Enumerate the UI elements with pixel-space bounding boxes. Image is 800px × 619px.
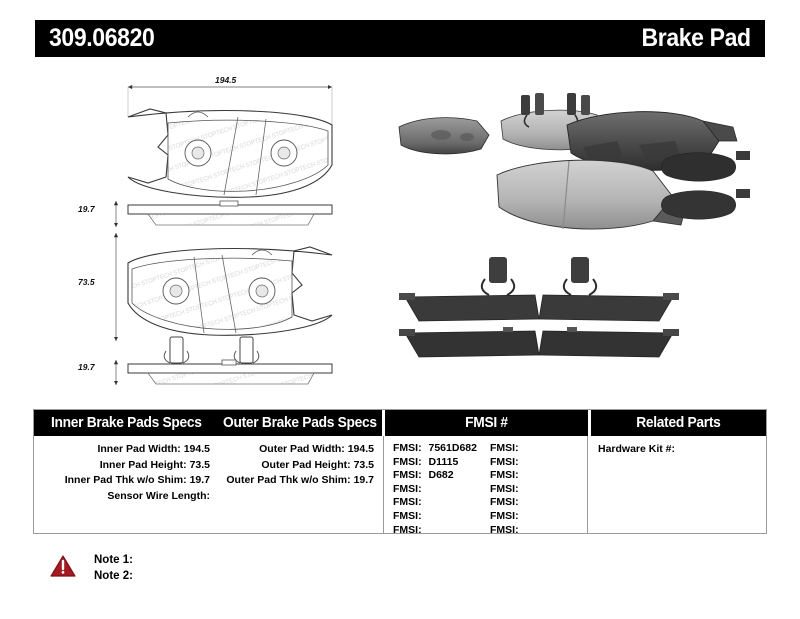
outer-specs-cell: Outer Pad Width: 194.5 Outer Pad Height:… bbox=[219, 436, 383, 533]
lower-pad-face-view bbox=[128, 247, 332, 335]
illustration-area: STOPTECH bbox=[0, 60, 800, 390]
fmsi-label: FMSI: bbox=[393, 483, 422, 495]
fmsi-label: FMSI: bbox=[393, 456, 422, 468]
photo-pad-angled-back-left bbox=[399, 118, 489, 154]
spec-row: Outer Pad Thk w/o Shim: 19.7 bbox=[219, 473, 383, 489]
spec-value: 194.5 bbox=[184, 443, 210, 455]
spec-row: Inner Pad Width: 194.5 bbox=[34, 442, 219, 458]
spec-value: 73.5 bbox=[190, 459, 210, 471]
fmsi-column-right: FMSI: FMSI: FMSI: FMSI: bbox=[490, 442, 587, 537]
table-header-outer-specs-label: Outer Brake Pads Specs bbox=[223, 415, 377, 431]
fmsi-label: FMSI: bbox=[393, 510, 422, 522]
dimension-label-thickness-lower: 19.7 bbox=[78, 362, 95, 372]
fmsi-row: FMSI: bbox=[490, 469, 587, 483]
spec-label: Inner Pad Thk w/o Shim: bbox=[65, 474, 187, 486]
table-header-related-parts-label: Related Parts bbox=[637, 415, 721, 431]
product-photos-svg bbox=[385, 65, 785, 385]
dimension-label-height: 73.5 bbox=[78, 277, 95, 287]
table-header-fmsi-label: FMSI # bbox=[465, 415, 508, 431]
table-header-related-parts: Related Parts bbox=[591, 410, 766, 436]
specifications-table: Inner Brake Pads Specs Outer Brake Pads … bbox=[33, 409, 767, 534]
spec-value: 194.5 bbox=[348, 443, 374, 455]
fmsi-row: FMSI: bbox=[490, 442, 587, 456]
spec-value: 73.5 bbox=[354, 459, 374, 471]
spec-value: 19.7 bbox=[190, 474, 210, 486]
fmsi-label: FMSI: bbox=[490, 524, 519, 536]
notes-area: Note 1: Note 2: bbox=[50, 552, 133, 584]
brake-pad-technical-drawing: STOPTECH bbox=[70, 65, 370, 385]
brake-pad-product-photos bbox=[385, 65, 785, 385]
related-parts-row: Hardware Kit #: bbox=[588, 442, 762, 456]
spec-value: 19.7 bbox=[354, 474, 374, 486]
fmsi-label: FMSI: bbox=[393, 469, 422, 481]
fmsi-row: FMSI: bbox=[490, 524, 587, 538]
fmsi-label: FMSI: bbox=[393, 442, 422, 454]
upper-pad-face-view bbox=[128, 109, 332, 197]
fmsi-label: FMSI: bbox=[490, 496, 519, 508]
fmsi-label: FMSI: bbox=[393, 496, 422, 508]
spec-label: Inner Pad Width: bbox=[97, 443, 180, 455]
dimension-label-thickness-upper: 19.7 bbox=[78, 204, 95, 214]
spec-row: Inner Pad Thk w/o Shim: 19.7 bbox=[34, 473, 219, 489]
lower-pad-edge-view-with-sensors bbox=[128, 337, 332, 384]
fmsi-row: FMSI: D1115 bbox=[393, 456, 490, 470]
cad-drawing-svg: STOPTECH bbox=[70, 65, 370, 385]
fmsi-column-left: FMSI: 7561D682 FMSI: D1115 FMSI: D682 FM… bbox=[393, 442, 490, 537]
related-parts-cell: Hardware Kit #: bbox=[587, 436, 762, 533]
fmsi-row: FMSI: bbox=[393, 483, 490, 497]
spec-row: Sensor Wire Length: bbox=[34, 489, 219, 505]
upper-pad-edge-view bbox=[128, 201, 332, 225]
fmsi-value: D682 bbox=[429, 469, 454, 481]
fmsi-row: FMSI: bbox=[393, 510, 490, 524]
part-number: 309.06820 bbox=[49, 24, 154, 53]
fmsi-row: FMSI: bbox=[490, 456, 587, 470]
note-row-2: Note 2: bbox=[94, 568, 133, 584]
photo-pad-grid-bottom-left bbox=[661, 189, 750, 219]
photo-pad-grid bbox=[661, 151, 750, 219]
photo-pad-grid-top-left bbox=[661, 151, 750, 181]
fmsi-value: 7561D682 bbox=[429, 442, 477, 454]
fmsi-row: FMSI: bbox=[393, 496, 490, 510]
spec-row: Outer Pad Width: 194.5 bbox=[219, 442, 383, 458]
table-body-row: Inner Pad Width: 194.5 Inner Pad Height:… bbox=[34, 436, 766, 533]
fmsi-row: FMSI: bbox=[490, 483, 587, 497]
photo-pad-pair-edge-with-sensors bbox=[399, 257, 679, 357]
fmsi-row: FMSI: D682 bbox=[393, 469, 490, 483]
inner-specs-cell: Inner Pad Width: 194.5 Inner Pad Height:… bbox=[34, 436, 219, 533]
fmsi-row: FMSI: bbox=[490, 496, 587, 510]
fmsi-row: FMSI: 7561D682 bbox=[393, 442, 490, 456]
wear-sensor-clip-left bbox=[164, 337, 189, 363]
fmsi-row: FMSI: bbox=[393, 524, 490, 538]
fmsi-label: FMSI: bbox=[393, 524, 422, 536]
note-row-1: Note 1: bbox=[94, 552, 133, 568]
table-header-inner-specs: Inner Brake Pads Specs bbox=[34, 410, 219, 436]
fmsi-label: FMSI: bbox=[490, 483, 519, 495]
note-label-1: Note 1: bbox=[94, 554, 133, 566]
spec-label: Outer Pad Thk w/o Shim: bbox=[226, 474, 350, 486]
fmsi-label: FMSI: bbox=[490, 456, 519, 468]
table-header-row: Inner Brake Pads Specs Outer Brake Pads … bbox=[34, 410, 766, 436]
fmsi-cell: FMSI: 7561D682 FMSI: D1115 FMSI: D682 FM… bbox=[383, 436, 587, 533]
product-type-label: Brake Pad bbox=[642, 24, 751, 53]
spec-label: Outer Pad Width: bbox=[259, 443, 345, 455]
related-parts-label: Hardware Kit #: bbox=[598, 443, 675, 455]
fmsi-value: D1115 bbox=[429, 456, 459, 468]
wear-sensor-clip-right bbox=[234, 337, 259, 363]
spec-row: Inner Pad Height: 73.5 bbox=[34, 458, 219, 474]
dimension-label-width: 194.5 bbox=[215, 75, 236, 85]
spec-label: Sensor Wire Length: bbox=[107, 490, 210, 502]
spec-label: Inner Pad Height: bbox=[100, 459, 187, 471]
table-header-fmsi: FMSI # bbox=[385, 410, 588, 436]
fmsi-label: FMSI: bbox=[490, 442, 519, 454]
note-label-2: Note 2: bbox=[94, 570, 133, 582]
table-header-outer-specs: Outer Brake Pads Specs bbox=[219, 410, 383, 436]
fmsi-label: FMSI: bbox=[490, 510, 519, 522]
fmsi-row: FMSI: bbox=[490, 510, 587, 524]
table-header-inner-specs-label: Inner Brake Pads Specs bbox=[51, 415, 202, 431]
warning-triangle-icon bbox=[50, 554, 76, 578]
fmsi-label: FMSI: bbox=[490, 469, 519, 481]
spec-row: Outer Pad Height: 73.5 bbox=[219, 458, 383, 474]
page-header-bar: 309.06820 Brake Pad bbox=[35, 20, 765, 57]
spec-label: Outer Pad Height: bbox=[261, 459, 350, 471]
